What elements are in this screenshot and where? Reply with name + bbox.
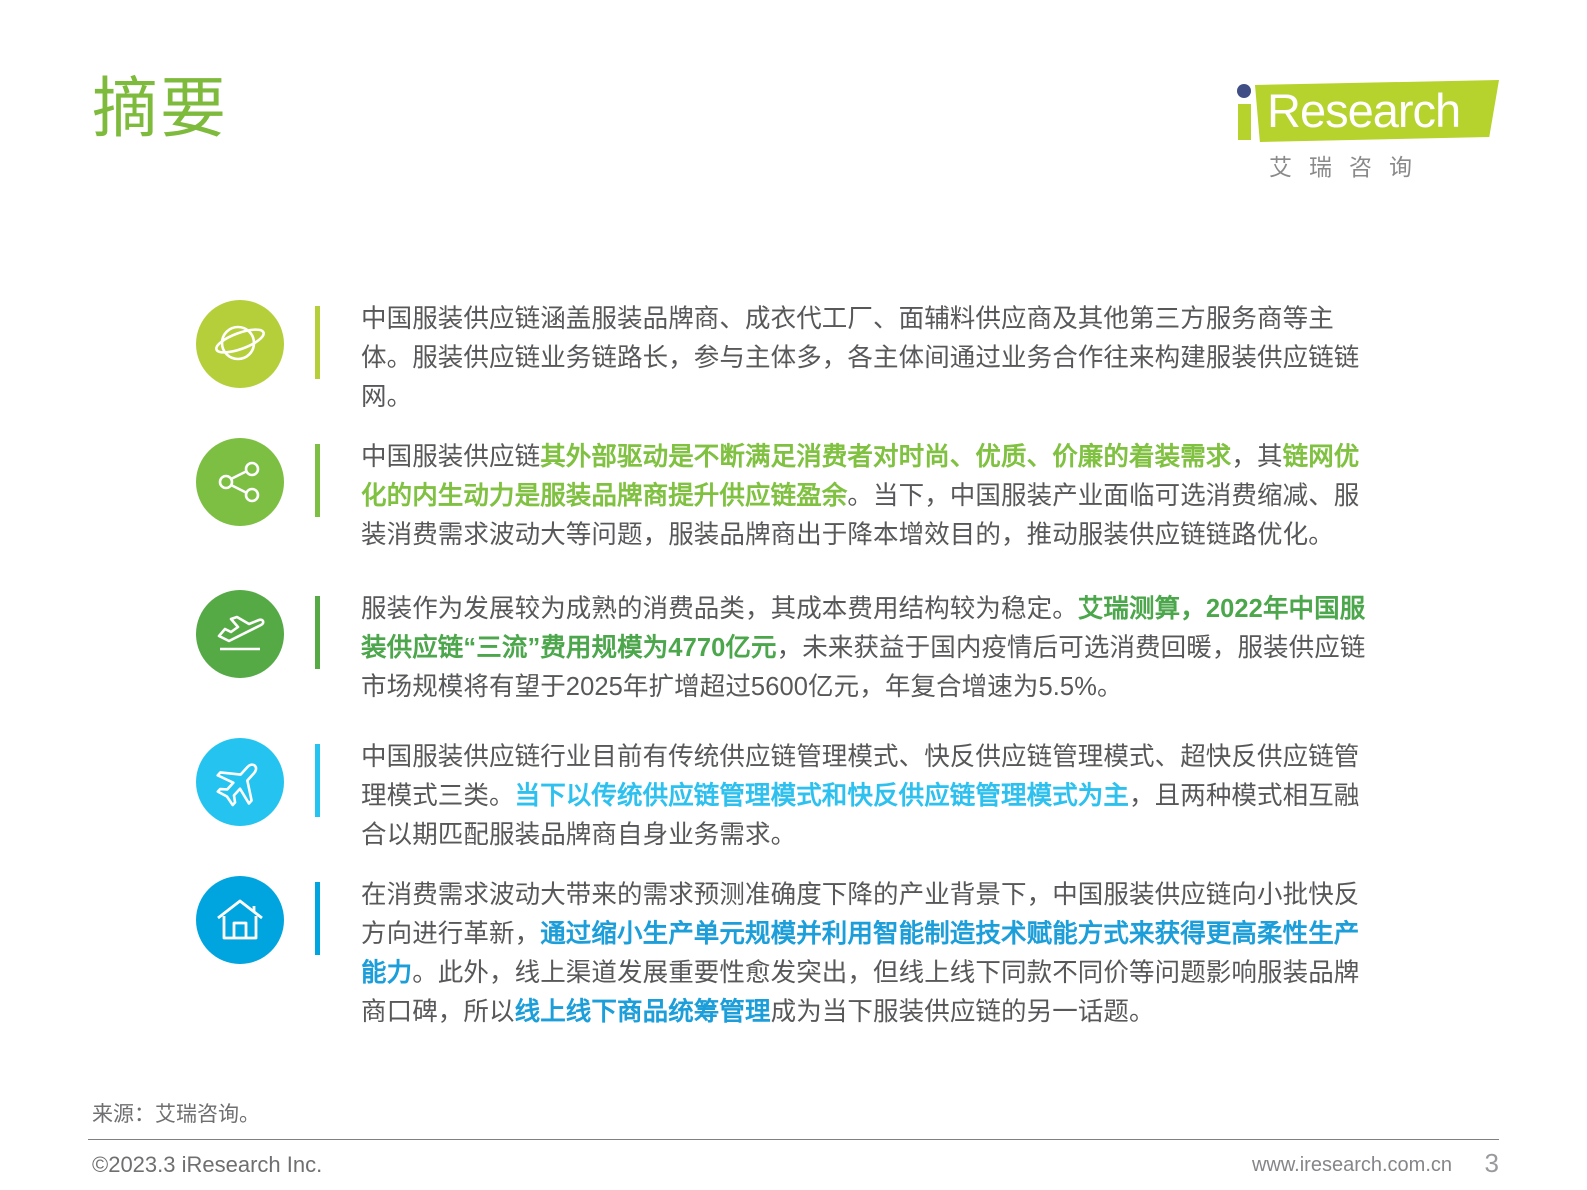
list-item: 中国服装供应链行业目前有传统供应链管理模式、快反供应链管理模式、超快反供应链管理…	[196, 738, 1366, 855]
plane-takeoff-icon	[196, 590, 284, 678]
row-divider-bar	[315, 306, 320, 379]
list-item: 在消费需求波动大带来的需求预测准确度下降的产业背景下，中国服装供应链向小批快反方…	[196, 876, 1366, 1032]
list-item-text: 中国服装供应链行业目前有传统供应链管理模式、快反供应链管理模式、超快反供应链管理…	[361, 738, 1366, 855]
list-item: 中国服装供应链其外部驱动是不断满足消费者对时尚、优质、价廉的着装需求，其链网优化…	[196, 438, 1366, 555]
list-item-text: 服装作为发展较为成熟的消费品类，其成本费用结构较为稳定。艾瑞测算，2022年中国…	[361, 590, 1366, 707]
row-divider-bar	[315, 744, 320, 817]
page-number: 3	[1485, 1148, 1499, 1179]
logo-chinese-name: 艾瑞咨询	[1269, 148, 1429, 182]
logo-i-stem	[1238, 104, 1251, 140]
logo-i-dot	[1237, 84, 1251, 98]
iresearch-logo: Research 艾瑞咨询	[1227, 78, 1499, 184]
home-icon	[196, 876, 284, 964]
list-item: 中国服装供应链涵盖服装品牌商、成衣代工厂、面辅料供应商及其他第三方服务商等主体。…	[196, 300, 1366, 417]
share-network-icon	[196, 438, 284, 526]
footer-divider	[88, 1139, 1499, 1140]
row-divider-bar	[315, 444, 320, 517]
list-item-text: 中国服装供应链涵盖服装品牌商、成衣代工厂、面辅料供应商及其他第三方服务商等主体。…	[361, 300, 1366, 417]
copyright-text: ©2023.3 iResearch Inc.	[92, 1152, 322, 1178]
logo-wordmark: Research	[1267, 82, 1460, 140]
list-item-text: 在消费需求波动大带来的需求预测准确度下降的产业背景下，中国服装供应链向小批快反方…	[361, 876, 1366, 1032]
slide-page: 摘要 Research 艾瑞咨询 中国服装供应链涵盖服装品牌商、成衣代工厂、面辅…	[0, 0, 1587, 1190]
page-title: 摘要	[92, 72, 228, 145]
source-note: 来源：艾瑞咨询。	[92, 1098, 260, 1128]
list-item: 服装作为发展较为成熟的消费品类，其成本费用结构较为稳定。艾瑞测算，2022年中国…	[196, 590, 1366, 707]
website-url: www.iresearch.com.cn	[1252, 1154, 1452, 1177]
list-item-text: 中国服装供应链其外部驱动是不断满足消费者对时尚、优质、价廉的着装需求，其链网优化…	[361, 438, 1366, 555]
airplane-icon	[196, 738, 284, 826]
planet-icon	[196, 300, 284, 388]
logo-mark: Research	[1227, 78, 1499, 144]
row-divider-bar	[315, 596, 320, 669]
row-divider-bar	[315, 882, 320, 955]
